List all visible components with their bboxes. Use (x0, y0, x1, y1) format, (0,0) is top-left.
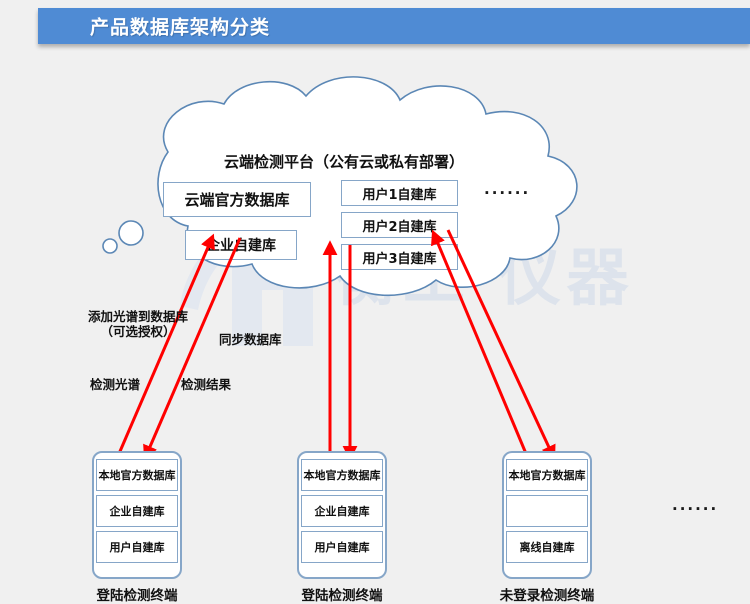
terminal-1-caption: 登陆检测终端 (68, 584, 206, 604)
label-add-spectrum: 添加光谱到数据库 （可选授权） (88, 309, 188, 339)
terminal-3[interactable]: 本地官方数据库 离线自建库 未登录检测终端 (502, 451, 592, 579)
terminal-3-cell-local-official-db[interactable]: 本地官方数据库 (506, 459, 588, 491)
bottom-ellipsis: ······ (672, 500, 718, 518)
arrow-t3-up (434, 234, 527, 456)
page-title: 产品数据库架构分类 (90, 13, 270, 40)
terminal-1-cell-user-db[interactable]: 用户自建库 (96, 531, 178, 563)
label-detect-spectrum: 检测光谱 (90, 377, 140, 392)
label-add-spectrum-line1: 添加光谱到数据库 (88, 309, 188, 324)
terminal-3-caption: 未登录检测终端 (478, 584, 616, 604)
diagram-canvas: 衡工 仪器 ® 云端检测平台（公有云或私有部署） 云端官方数据库 企业自建库 用… (0, 52, 750, 568)
terminal-3-cell-offline-db[interactable]: 离线自建库 (506, 531, 588, 563)
terminal-2-caption: 登陆检测终端 (273, 584, 411, 604)
terminal-1[interactable]: 本地官方数据库 企业自建库 用户自建库 登陆检测终端 (92, 451, 182, 579)
page-title-bar: 产品数据库架构分类 (38, 8, 750, 44)
arrow-t3-down (448, 230, 553, 456)
terminal-1-cell-local-official-db[interactable]: 本地官方数据库 (96, 459, 178, 491)
label-add-spectrum-line2: （可选授权） (88, 324, 188, 339)
label-detect-result: 检测结果 (181, 377, 231, 392)
arrow-t1-up (118, 238, 212, 456)
label-sync-db: 同步数据库 (219, 332, 282, 347)
terminal-2-cell-enterprise-db[interactable]: 企业自建库 (301, 495, 383, 527)
terminal-1-cell-enterprise-db[interactable]: 企业自建库 (96, 495, 178, 527)
terminal-2-cell-user-db[interactable]: 用户自建库 (301, 531, 383, 563)
arrow-t1-down (146, 238, 240, 456)
terminal-2[interactable]: 本地官方数据库 企业自建库 用户自建库 登陆检测终端 (297, 451, 387, 579)
terminal-3-cell-empty[interactable] (506, 495, 588, 527)
terminal-2-cell-local-official-db[interactable]: 本地官方数据库 (301, 459, 383, 491)
diagram-root: 产品数据库架构分类 衡工 仪器 ® 云端检测平台 (0, 0, 750, 568)
